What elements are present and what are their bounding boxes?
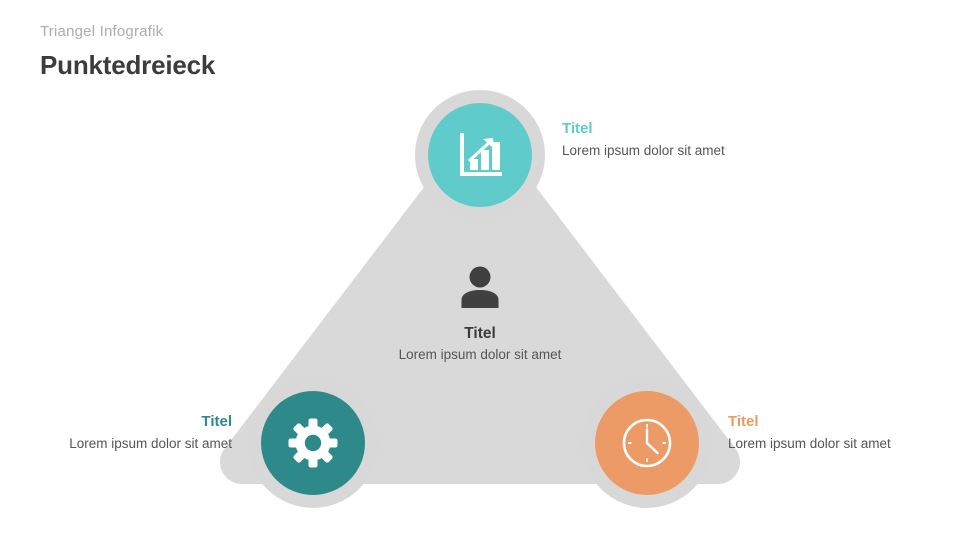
center-description: Lorem ipsum dolor sit amet [391,346,569,364]
node-circle-bottom-left[interactable] [261,391,365,495]
node-description-bottom-left: Lorem ipsum dolor sit amet [60,435,232,453]
node-description-top: Lorem ipsum dolor sit amet [562,142,742,160]
node-circle-bottom-right[interactable] [595,391,699,495]
node-circle-top[interactable] [428,103,532,207]
node-description-bottom-right: Lorem ipsum dolor sit amet [728,435,908,453]
bar-chart-growth-icon [454,129,506,181]
node-title-top: Titel [562,119,742,139]
node-label-top: Titel Lorem ipsum dolor sit amet [562,119,742,160]
clock-icon [620,416,674,470]
person-icon-wrap [380,266,580,308]
node-title-bottom-left: Titel [60,412,232,432]
center-block: Titel Lorem ipsum dolor sit amet [380,266,580,364]
person-icon [458,266,502,308]
node-label-bottom-right: Titel Lorem ipsum dolor sit amet [728,412,908,453]
center-title: Titel [380,324,580,344]
slide-canvas: Triangel Infografik Punktedreieck Titel … [0,0,960,540]
gear-icon [287,417,339,469]
node-title-bottom-right: Titel [728,412,908,432]
node-label-bottom-left: Titel Lorem ipsum dolor sit amet [60,412,232,453]
